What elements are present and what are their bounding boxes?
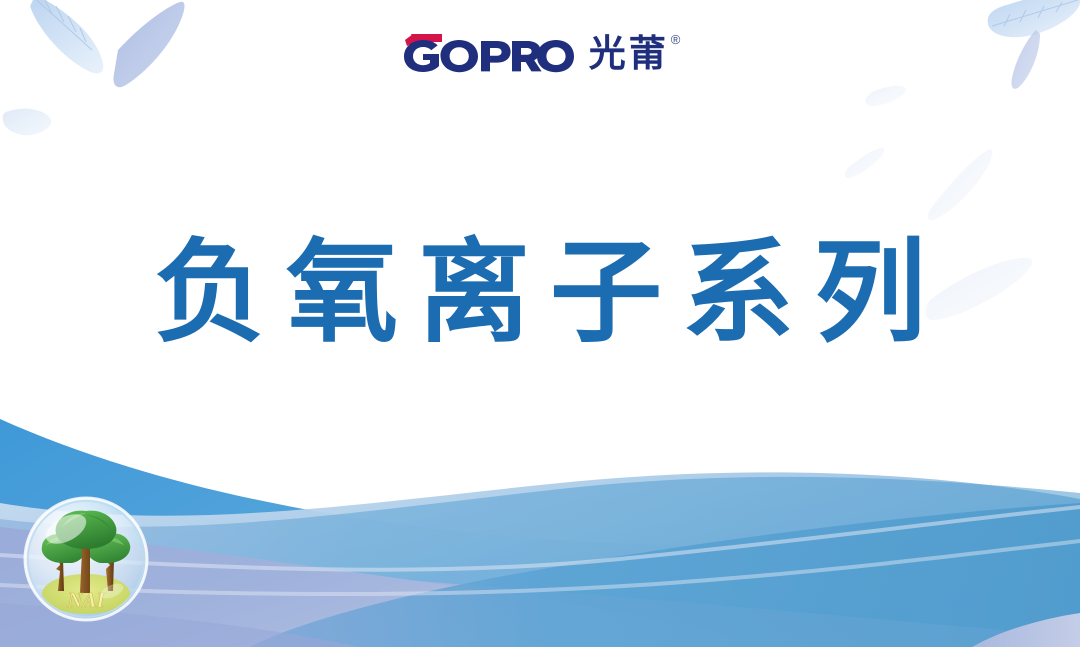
badge-label: NAI <box>66 588 105 612</box>
wave-decoration-layer <box>0 407 1080 647</box>
brand-logo: 光莆 ® <box>0 33 1080 73</box>
leaf-icon <box>928 149 993 220</box>
page-title-text: 负氧离子系列 <box>134 236 946 354</box>
page-title: 负氧离子系列 <box>0 236 1080 354</box>
gopro-wordmark-icon <box>402 33 574 73</box>
leaf-icon <box>3 109 52 136</box>
brand-name-cn: 光莆 <box>589 36 669 73</box>
product-banner: 光莆 ® 负氧离子系列 <box>0 0 1080 647</box>
leaf-icon <box>865 86 906 106</box>
leaf-icon <box>845 148 884 178</box>
nai-badge: NAI <box>20 493 152 625</box>
registered-trademark-icon: ® <box>671 32 681 47</box>
